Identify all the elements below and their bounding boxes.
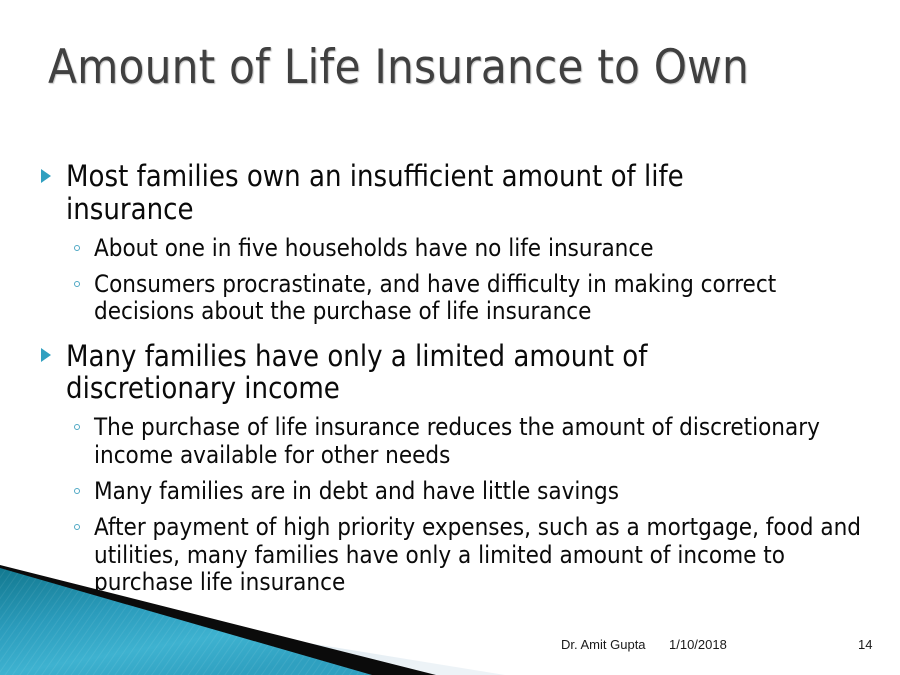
deco-pale-band [0,593,505,675]
triangle-bullet-icon [41,348,51,362]
bullet-level2-text: The purchase of life insurance reduces t… [94,413,820,468]
bullet-level2: Consumers procrastinate, and have diffic… [36,271,876,326]
bullet-level2: The purchase of life insurance reduces t… [36,414,876,469]
bullet-level2-text: Consumers procrastinate, and have diffic… [94,270,776,325]
bullet-level2: About one in five households have no lif… [36,235,876,262]
bullet-level2: Many families are in debt and have littl… [36,478,876,505]
slide: Amount of Life Insurance to Own Most fam… [0,0,900,675]
bullet-group: Many families have only a limited amount… [36,340,876,597]
slide-body: Most families own an insufficient amount… [36,160,876,596]
slide-title: Amount of Life Insurance to Own [48,42,868,94]
circle-bullet-icon [74,245,80,251]
circle-bullet-icon [74,524,80,530]
bullet-level1-text: Most families own an insufficient amount… [66,159,684,226]
footer-page-number: 14 [858,637,872,652]
circle-bullet-icon [74,424,80,430]
footer-author: Dr. Amit Gupta [561,637,646,652]
footer-date: 1/10/2018 [669,637,727,652]
circle-bullet-icon [74,281,80,287]
bullet-level1: Many families have only a limited amount… [36,340,796,406]
circle-bullet-icon [74,488,80,494]
triangle-bullet-icon [41,169,51,183]
bullet-level2: After payment of high priority expenses,… [36,514,876,596]
bullet-level1-text: Many families have only a limited amount… [66,339,647,406]
bullet-group: Most families own an insufficient amount… [36,160,876,326]
bullet-level2-text: Many families are in debt and have littl… [94,477,619,505]
bullet-level2-text: After payment of high priority expenses,… [94,513,861,596]
bullet-level2-text: About one in five households have no lif… [94,234,654,262]
bullet-level1: Most families own an insufficient amount… [36,160,796,226]
